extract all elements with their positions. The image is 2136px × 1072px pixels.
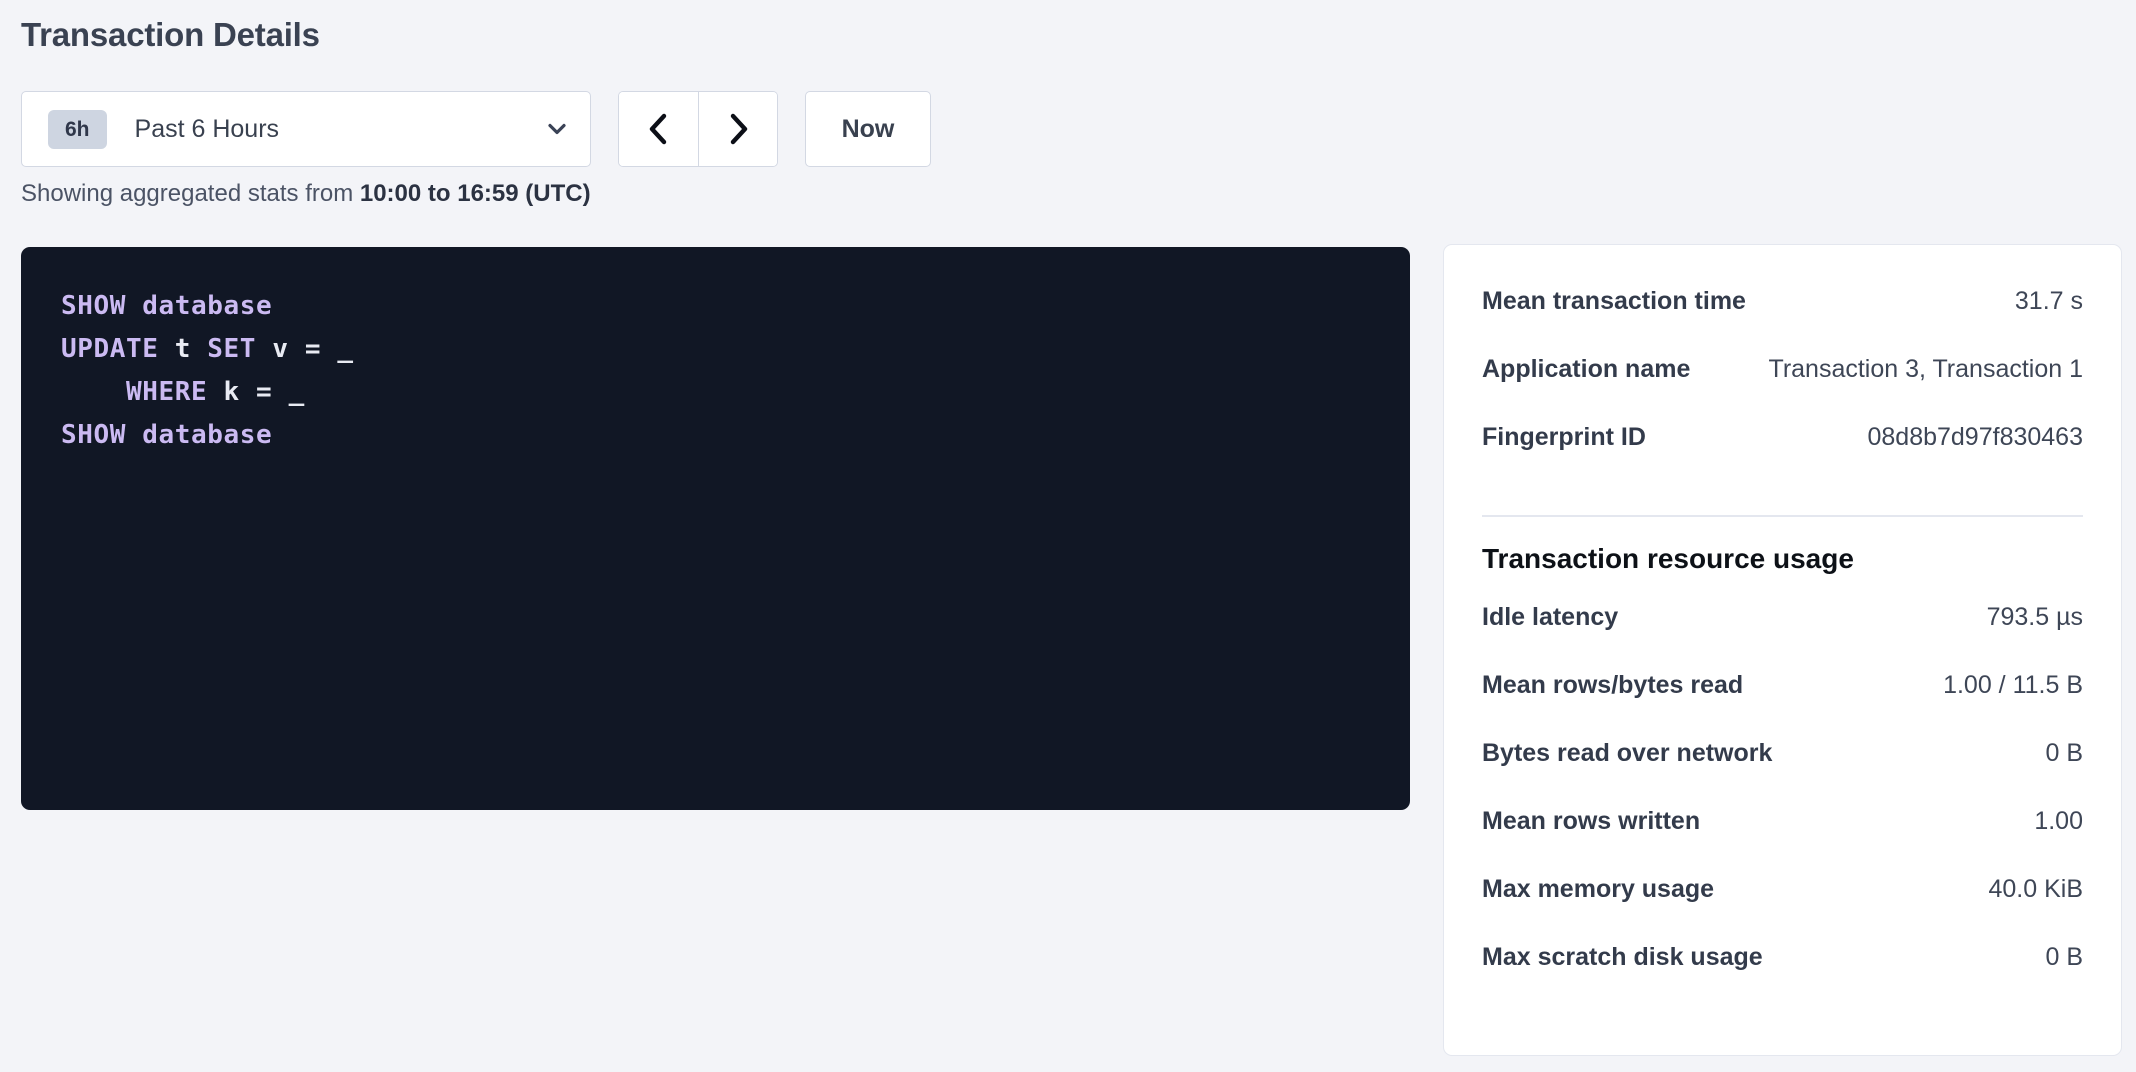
chevron-down-icon bbox=[546, 118, 568, 140]
sql-keyword: SHOW bbox=[61, 420, 126, 450]
time-range-label: Past 6 Hours bbox=[135, 115, 280, 144]
sql-token bbox=[126, 420, 142, 450]
time-range-toolbar: 6h Past 6 Hours bbox=[21, 91, 931, 167]
resource-stat-row: Max memory usage40.0 KiB bbox=[1482, 875, 2083, 943]
stat-value: 40.0 KiB bbox=[1972, 875, 2083, 904]
sql-line: UPDATE t SET v = _ bbox=[61, 328, 1410, 371]
summary-stats-list: Mean transaction time31.7 sApplication n… bbox=[1482, 287, 2083, 491]
chevron-left-icon bbox=[644, 112, 674, 146]
sql-statement-panel: SHOW databaseUPDATE t SET v = _ WHERE k … bbox=[21, 247, 1410, 810]
stat-label: Mean rows written bbox=[1482, 807, 1700, 836]
sql-keyword: SET bbox=[207, 334, 256, 364]
stat-label: Fingerprint ID bbox=[1482, 423, 1646, 452]
aggregation-note-range: 10:00 to 16:59 (UTC) bbox=[360, 180, 591, 207]
stat-label: Mean transaction time bbox=[1482, 287, 1746, 316]
summary-stat-row: Mean transaction time31.7 s bbox=[1482, 287, 2083, 355]
stat-label: Application name bbox=[1482, 355, 1690, 384]
stat-label: Idle latency bbox=[1482, 603, 1618, 632]
stat-label: Max scratch disk usage bbox=[1482, 943, 1763, 972]
resource-stat-row: Max scratch disk usage0 B bbox=[1482, 943, 2083, 1011]
stat-label: Mean rows/bytes read bbox=[1482, 671, 1743, 700]
summary-stat-row: Fingerprint ID08d8b7d97f830463 bbox=[1482, 423, 2083, 491]
sql-keyword: UPDATE bbox=[61, 334, 159, 364]
time-range-select[interactable]: 6h Past 6 Hours bbox=[21, 91, 591, 167]
resource-stat-row: Mean rows written1.00 bbox=[1482, 807, 2083, 875]
sql-line: SHOW database bbox=[61, 285, 1410, 328]
resource-stat-row: Mean rows/bytes read1.00 / 11.5 B bbox=[1482, 671, 2083, 739]
previous-period-button[interactable] bbox=[619, 92, 698, 166]
time-range-badge: 6h bbox=[48, 110, 107, 149]
sql-line: WHERE k = _ bbox=[61, 371, 1410, 414]
sql-keyword: database bbox=[142, 291, 272, 321]
next-period-button[interactable] bbox=[698, 92, 777, 166]
stats-divider bbox=[1482, 515, 2083, 517]
stat-label: Bytes read over network bbox=[1482, 739, 1772, 768]
sql-keyword: SHOW bbox=[61, 291, 126, 321]
stat-value: 793.5 µs bbox=[1971, 603, 2083, 632]
sql-keyword: database bbox=[142, 420, 272, 450]
stat-value: 0 B bbox=[2029, 943, 2083, 972]
transaction-stats-card: Mean transaction time31.7 sApplication n… bbox=[1443, 244, 2122, 1056]
transaction-details-page: Transaction Details 6h Past 6 Hours bbox=[0, 0, 2136, 1072]
sql-line: SHOW database bbox=[61, 414, 1410, 457]
stat-value: 1.00 bbox=[2018, 807, 2083, 836]
page-title: Transaction Details bbox=[21, 16, 320, 54]
aggregation-note: Showing aggregated stats from 10:00 to 1… bbox=[21, 180, 591, 208]
time-nav-group bbox=[618, 91, 778, 167]
resource-stats-list: Idle latency793.5 µsMean rows/bytes read… bbox=[1482, 603, 2083, 1011]
aggregation-note-prefix: Showing aggregated stats from bbox=[21, 180, 360, 207]
stat-value: 1.00 / 11.5 B bbox=[1927, 671, 2083, 700]
stat-value: Transaction 3, Transaction 1 bbox=[1752, 355, 2083, 384]
summary-stat-row: Application nameTransaction 3, Transacti… bbox=[1482, 355, 2083, 423]
resource-stat-row: Idle latency793.5 µs bbox=[1482, 603, 2083, 671]
sql-statement-code: SHOW databaseUPDATE t SET v = _ WHERE k … bbox=[61, 285, 1410, 457]
stat-label: Max memory usage bbox=[1482, 875, 1714, 904]
resource-stat-row: Bytes read over network0 B bbox=[1482, 739, 2083, 807]
stat-value: 0 B bbox=[2029, 739, 2083, 768]
sql-token: t bbox=[159, 334, 208, 364]
sql-token bbox=[61, 377, 126, 407]
sql-token: v = _ bbox=[256, 334, 354, 364]
chevron-right-icon bbox=[723, 112, 753, 146]
sql-keyword: WHERE bbox=[126, 377, 207, 407]
sql-token bbox=[126, 291, 142, 321]
now-button[interactable]: Now bbox=[805, 91, 931, 167]
stat-value: 08d8b7d97f830463 bbox=[1851, 423, 2083, 452]
resource-usage-title: Transaction resource usage bbox=[1482, 543, 2083, 575]
stat-value: 31.7 s bbox=[1999, 287, 2083, 316]
sql-token: k = _ bbox=[207, 377, 305, 407]
